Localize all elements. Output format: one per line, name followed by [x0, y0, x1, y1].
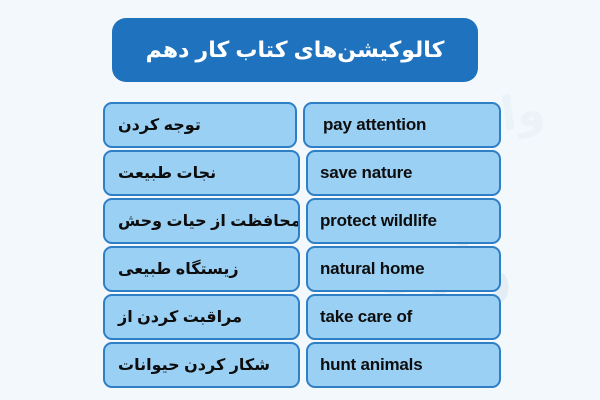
cell-english: save nature	[306, 150, 501, 196]
cell-english: take care of	[306, 294, 501, 340]
cell-persian: محافظت از حیات وحش	[103, 198, 300, 244]
persian-term: محافظت از حیات وحش	[118, 211, 300, 231]
content-stage: کالوکیشن‌های کتاب کار دهم pay attention …	[0, 0, 600, 400]
cell-persian: نجات طبیعت	[103, 150, 300, 196]
table-row: hunt animals شکار کردن حیوانات	[103, 342, 501, 388]
cell-english: hunt animals	[306, 342, 501, 388]
persian-term: زیستگاه طبیعی	[118, 259, 239, 279]
table-row: save nature نجات طبیعت	[103, 150, 501, 196]
cell-english: protect wildlife	[306, 198, 501, 244]
cell-english: natural home	[306, 246, 501, 292]
english-term: protect wildlife	[320, 211, 437, 231]
english-term: take care of	[320, 307, 412, 327]
english-term: save nature	[320, 163, 412, 183]
cell-persian: توجه کردن	[103, 102, 297, 148]
title-banner: کالوکیشن‌های کتاب کار دهم	[112, 18, 478, 82]
persian-term: مراقبت کردن از	[118, 307, 242, 327]
table-row: pay attention توجه کردن	[103, 102, 501, 148]
english-term: pay attention	[323, 115, 426, 135]
persian-term: شکار کردن حیوانات	[118, 355, 270, 375]
persian-term: توجه کردن	[118, 115, 201, 135]
english-term: hunt animals	[320, 355, 422, 375]
collocation-table: pay attention توجه کردن save nature نجات…	[103, 102, 501, 388]
persian-term: نجات طبیعت	[118, 163, 216, 183]
table-row: natural home زیستگاه طبیعی	[103, 246, 501, 292]
cell-persian: مراقبت کردن از	[103, 294, 300, 340]
cell-english: pay attention	[303, 102, 501, 148]
table-row: take care of مراقبت کردن از	[103, 294, 501, 340]
cell-persian: زیستگاه طبیعی	[103, 246, 300, 292]
english-term: natural home	[320, 259, 424, 279]
cell-persian: شکار کردن حیوانات	[103, 342, 300, 388]
table-row: protect wildlife محافظت از حیات وحش	[103, 198, 501, 244]
page-title: کالوکیشن‌های کتاب کار دهم	[146, 37, 445, 63]
